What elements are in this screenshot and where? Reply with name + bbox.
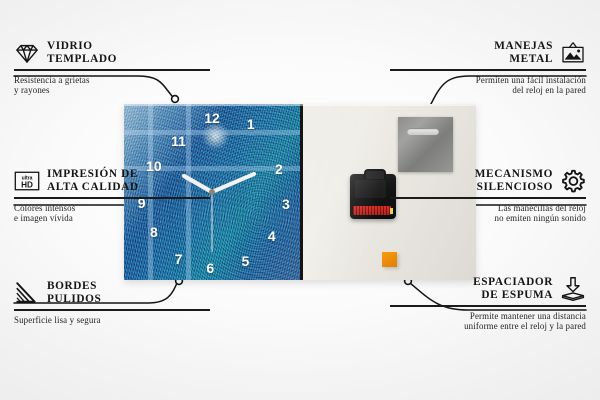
feature-description: Permite mantener una distancia uniforme …	[390, 311, 586, 332]
feature-title: MECANISMO SILENCIOSO	[475, 168, 553, 193]
feature-desc-line2: del reloj en la pared	[390, 85, 586, 96]
feature-description: Resistencia a grietas y rayones	[14, 75, 210, 96]
diamond-gem-icon	[14, 40, 40, 66]
feature-description: Colores intensos e imagen vívida	[14, 203, 210, 224]
feature-block-edges: BORDES PULIDOS Superficie lisa y segura	[14, 280, 210, 325]
feature-title-line2: DE ESPUMA	[473, 289, 553, 302]
feature-header: MANEJAS METAL	[390, 40, 586, 66]
feature-desc-line1: Resistencia a grietas	[14, 75, 210, 86]
feature-block-foam: ESPACIADOR DE ESPUMA Permite mantener un…	[390, 276, 586, 332]
feature-title-line1: MANEJAS	[494, 40, 553, 53]
svg-text:HD: HD	[21, 181, 33, 190]
feature-description: Permiten una fácil instalación del reloj…	[390, 75, 586, 96]
feature-description: Las manecillas del reloj no emiten ningú…	[390, 203, 586, 224]
polished-edge-icon	[14, 280, 40, 306]
feature-title-line1: IMPRESIÓN DE	[47, 168, 139, 181]
feature-desc-line1: Las manecillas del reloj	[390, 203, 586, 214]
feature-header: MECANISMO SILENCIOSO	[390, 168, 586, 194]
feature-title-line1: ESPACIADOR	[473, 276, 553, 289]
feature-title: IMPRESIÓN DE ALTA CALIDAD	[47, 168, 139, 193]
feature-title-line2: ALTA CALIDAD	[47, 181, 139, 194]
feature-divider	[14, 197, 210, 199]
minute-hand	[212, 174, 254, 192]
feature-desc-line1: Permiten una fácil instalación	[390, 75, 586, 86]
feature-title: MANEJAS METAL	[494, 40, 553, 65]
feature-title: BORDES PULIDOS	[47, 280, 101, 305]
feature-header: BORDES PULIDOS	[14, 280, 210, 306]
feature-desc-line2: no emiten ningún sonido	[390, 213, 586, 224]
feature-divider	[14, 309, 210, 311]
feature-title-line1: MECANISMO	[475, 168, 553, 181]
arrow-down-onto-pad-icon	[560, 276, 586, 302]
feature-header: VIDRIO TEMPLADO	[14, 40, 210, 66]
feature-title: ESPACIADOR DE ESPUMA	[473, 276, 553, 301]
feature-title-line1: VIDRIO	[47, 40, 117, 53]
feature-title: VIDRIO TEMPLADO	[47, 40, 117, 65]
feature-desc-line1: Permite mantener una distancia	[390, 311, 586, 322]
feature-desc-line2: e imagen vívida	[14, 213, 210, 224]
feature-title-line2: METAL	[494, 53, 553, 66]
wire-endpoint-glass	[172, 96, 179, 103]
feature-block-mechanism: MECANISMO SILENCIOSO Las manecillas del …	[390, 168, 586, 224]
feature-desc-line2: y rayones	[14, 85, 210, 96]
panel-top-edge	[124, 104, 476, 106]
feature-block-glass: VIDRIO TEMPLADO Resistencia a grietas y …	[14, 40, 210, 96]
ultra-hd-badge-icon: ultra HD	[14, 168, 40, 194]
feature-title-line2: TEMPLADO	[47, 53, 117, 66]
framed-picture-hanging-icon	[560, 40, 586, 66]
feature-divider	[390, 69, 586, 71]
feature-divider	[390, 197, 586, 199]
feature-title-line1: BORDES	[47, 280, 101, 293]
feature-title-line2: PULIDOS	[47, 293, 101, 306]
feature-divider	[14, 69, 210, 71]
feature-description: Superficie lisa y segura	[14, 315, 210, 326]
feature-divider	[390, 305, 586, 307]
feature-desc-line1: Colores intensos	[14, 203, 210, 214]
infographic-canvas: 12 1 2 3 4 5 6 7 8 9 10 11	[0, 0, 600, 400]
feature-header: ultra HD IMPRESIÓN DE ALTA CALIDAD	[14, 168, 210, 194]
feature-title-line2: SILENCIOSO	[475, 181, 553, 194]
feature-header: ESPACIADOR DE ESPUMA	[390, 276, 586, 302]
feature-desc-line2: uniforme entre el reloj y la pared	[390, 321, 586, 332]
feature-block-hands: MANEJAS METAL Permiten una fácil instala…	[390, 40, 586, 96]
gear-icon	[560, 168, 586, 194]
feature-desc-line1: Superficie lisa y segura	[14, 315, 210, 326]
feature-block-print: ultra HD IMPRESIÓN DE ALTA CALIDAD Color…	[14, 168, 210, 224]
